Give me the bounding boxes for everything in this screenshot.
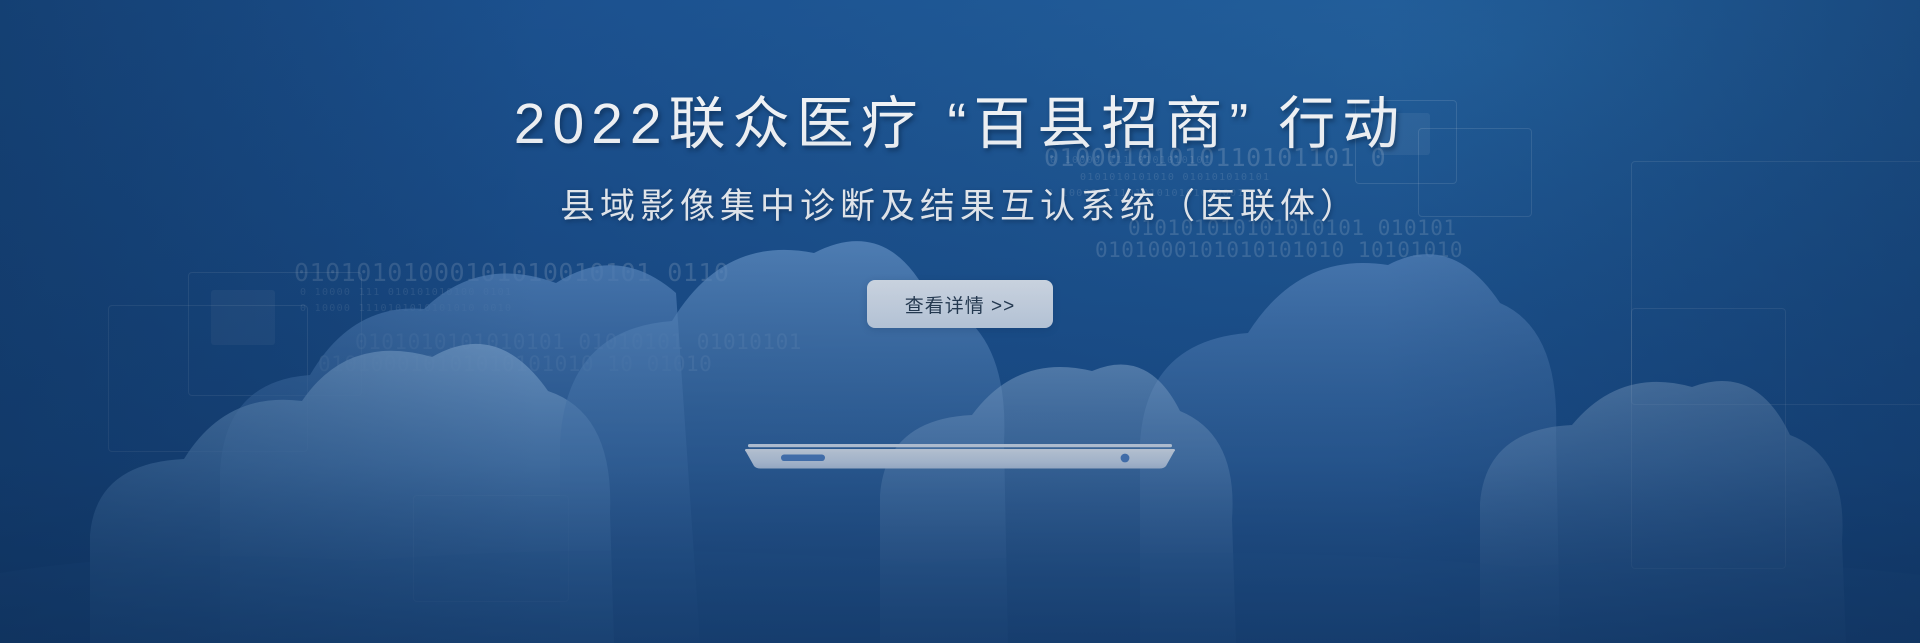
banner-vignette xyxy=(0,0,1920,643)
promo-banner: 01010101000101010010101 0110 0 10000 111… xyxy=(0,0,1920,643)
